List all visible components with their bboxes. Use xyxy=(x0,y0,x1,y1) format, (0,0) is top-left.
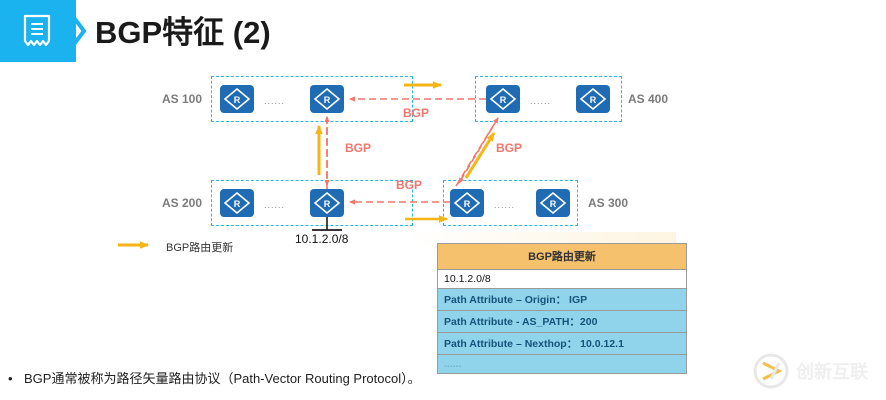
router-as100-left[interactable]: R xyxy=(220,85,254,113)
router-as200-left[interactable]: R xyxy=(220,189,254,217)
watermark-text: 创新互联 xyxy=(795,361,868,382)
legend-label: BGP路由更新 xyxy=(166,239,233,255)
update-arrow-diagonal xyxy=(466,133,494,178)
as-label-as300: AS 300 xyxy=(588,196,628,210)
bgp-label-center-right: BGP xyxy=(496,141,522,155)
svg-text:R: R xyxy=(550,199,557,209)
peer-link-as300-as400 xyxy=(456,118,498,186)
footer-bullet-row: •BGP通常被称为路径矢量路由协议（Path-Vector Routing Pr… xyxy=(8,368,708,387)
svg-text:R: R xyxy=(324,199,331,209)
bullet-marker: • xyxy=(8,371,24,386)
svg-text:R: R xyxy=(500,95,507,105)
as-label-as100: AS 100 xyxy=(162,92,202,106)
table-row-aspath: Path Attribute - AS_PATH：200 xyxy=(438,311,686,333)
bgp-update-table: BGP路由更新 10.1.2.0/8 Path Attribute – Orig… xyxy=(437,243,687,374)
table-row-nexthop: Path Attribute – Nexthop： 10.0.12.1 xyxy=(438,333,686,355)
network-label: 10.1.2.0/8 xyxy=(295,232,348,246)
router-as100-right[interactable]: R xyxy=(310,85,344,113)
svg-text:R: R xyxy=(590,95,597,105)
router-link-dots-as300: ...... xyxy=(494,200,515,210)
table-row-origin: Path Attribute – Origin： IGP xyxy=(438,289,686,311)
router-link-dots-as400: ...... xyxy=(530,96,551,106)
router-link-dots-as200: ...... xyxy=(264,200,285,210)
svg-text:R: R xyxy=(464,199,471,209)
watermark: 创新互联 xyxy=(752,352,878,390)
svg-text:R: R xyxy=(234,95,241,105)
router-as400-right[interactable]: R xyxy=(576,85,610,113)
bgp-label-top-right: BGP xyxy=(403,106,429,120)
as-label-as400: AS 400 xyxy=(628,92,668,106)
document-icon xyxy=(22,14,52,48)
page-title: BGP特征 (2) xyxy=(95,7,271,52)
table-row-prefix: 10.1.2.0/8 xyxy=(438,270,686,289)
svg-text:R: R xyxy=(324,95,331,105)
router-as300-right[interactable]: R xyxy=(536,189,570,217)
header-chevron-icon xyxy=(62,0,92,62)
router-as400-left[interactable]: R xyxy=(486,85,520,113)
footer-text: BGP通常被称为路径矢量路由协议（Path-Vector Routing Pro… xyxy=(24,371,421,386)
table-header: BGP路由更新 xyxy=(438,244,686,270)
router-link-dots-as100: ...... xyxy=(264,96,285,106)
router-as200-right[interactable]: R xyxy=(310,189,344,217)
svg-text:R: R xyxy=(234,199,241,209)
bgp-label-center-left: BGP xyxy=(345,141,371,155)
slide-canvas: BGP特征 (2) AS 100 AS 400 AS 200 AS 300 R … xyxy=(0,0,886,400)
router-as300-left[interactable]: R xyxy=(450,189,484,217)
bgp-label-bottom-mid: BGP xyxy=(396,178,422,192)
as-label-as200: AS 200 xyxy=(162,196,202,210)
